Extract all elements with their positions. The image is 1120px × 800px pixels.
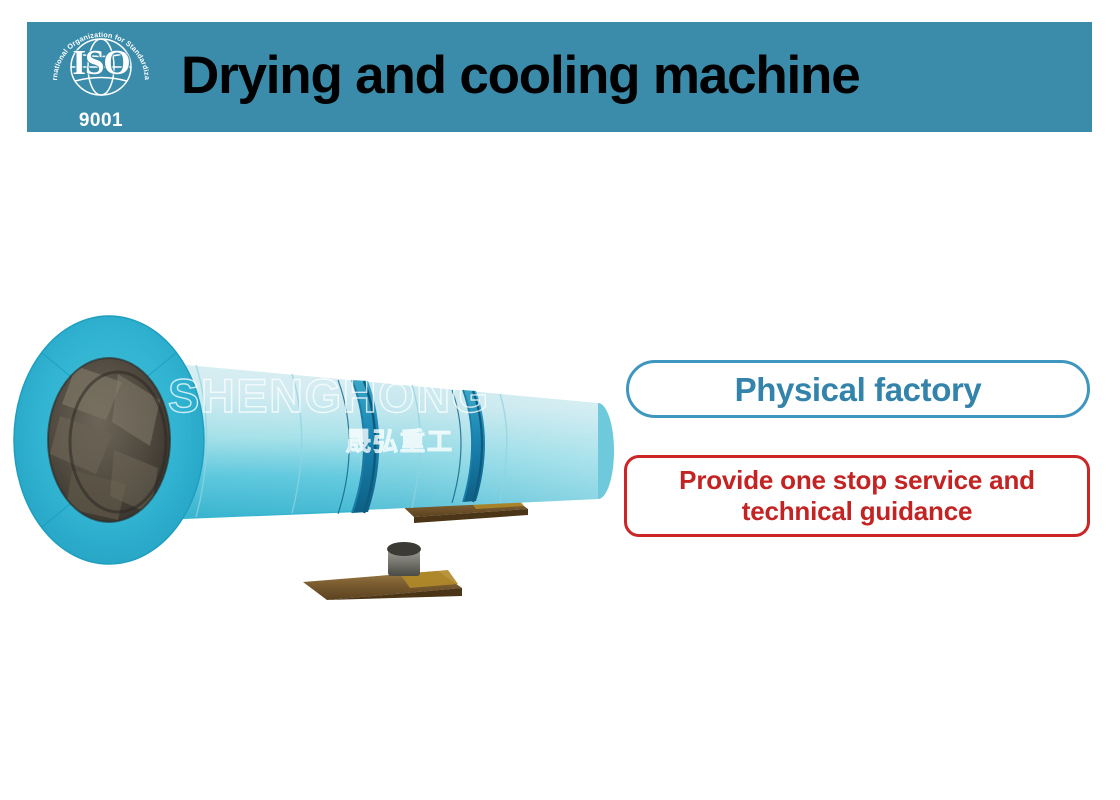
iso-standard-number: 9001 bbox=[45, 111, 157, 130]
iso-wordmark: ISO bbox=[45, 45, 157, 80]
callout-one-stop-service[interactable]: Provide one stop service and technical g… bbox=[624, 455, 1090, 537]
slide-canvas: International Organization for Standardi… bbox=[0, 0, 1120, 800]
header-banner: International Organization for Standardi… bbox=[27, 22, 1092, 132]
iso-9001-badge: International Organization for Standardi… bbox=[45, 23, 157, 131]
callout-physical-factory-label: Physical factory bbox=[735, 373, 982, 406]
support-base-near bbox=[303, 542, 462, 600]
page-title: Drying and cooling machine bbox=[157, 49, 1092, 106]
product-photo-rotary-drum bbox=[0, 270, 640, 600]
callout-one-stop-service-label: Provide one stop service and technical g… bbox=[627, 465, 1087, 526]
callout-physical-factory[interactable]: Physical factory bbox=[626, 360, 1090, 418]
